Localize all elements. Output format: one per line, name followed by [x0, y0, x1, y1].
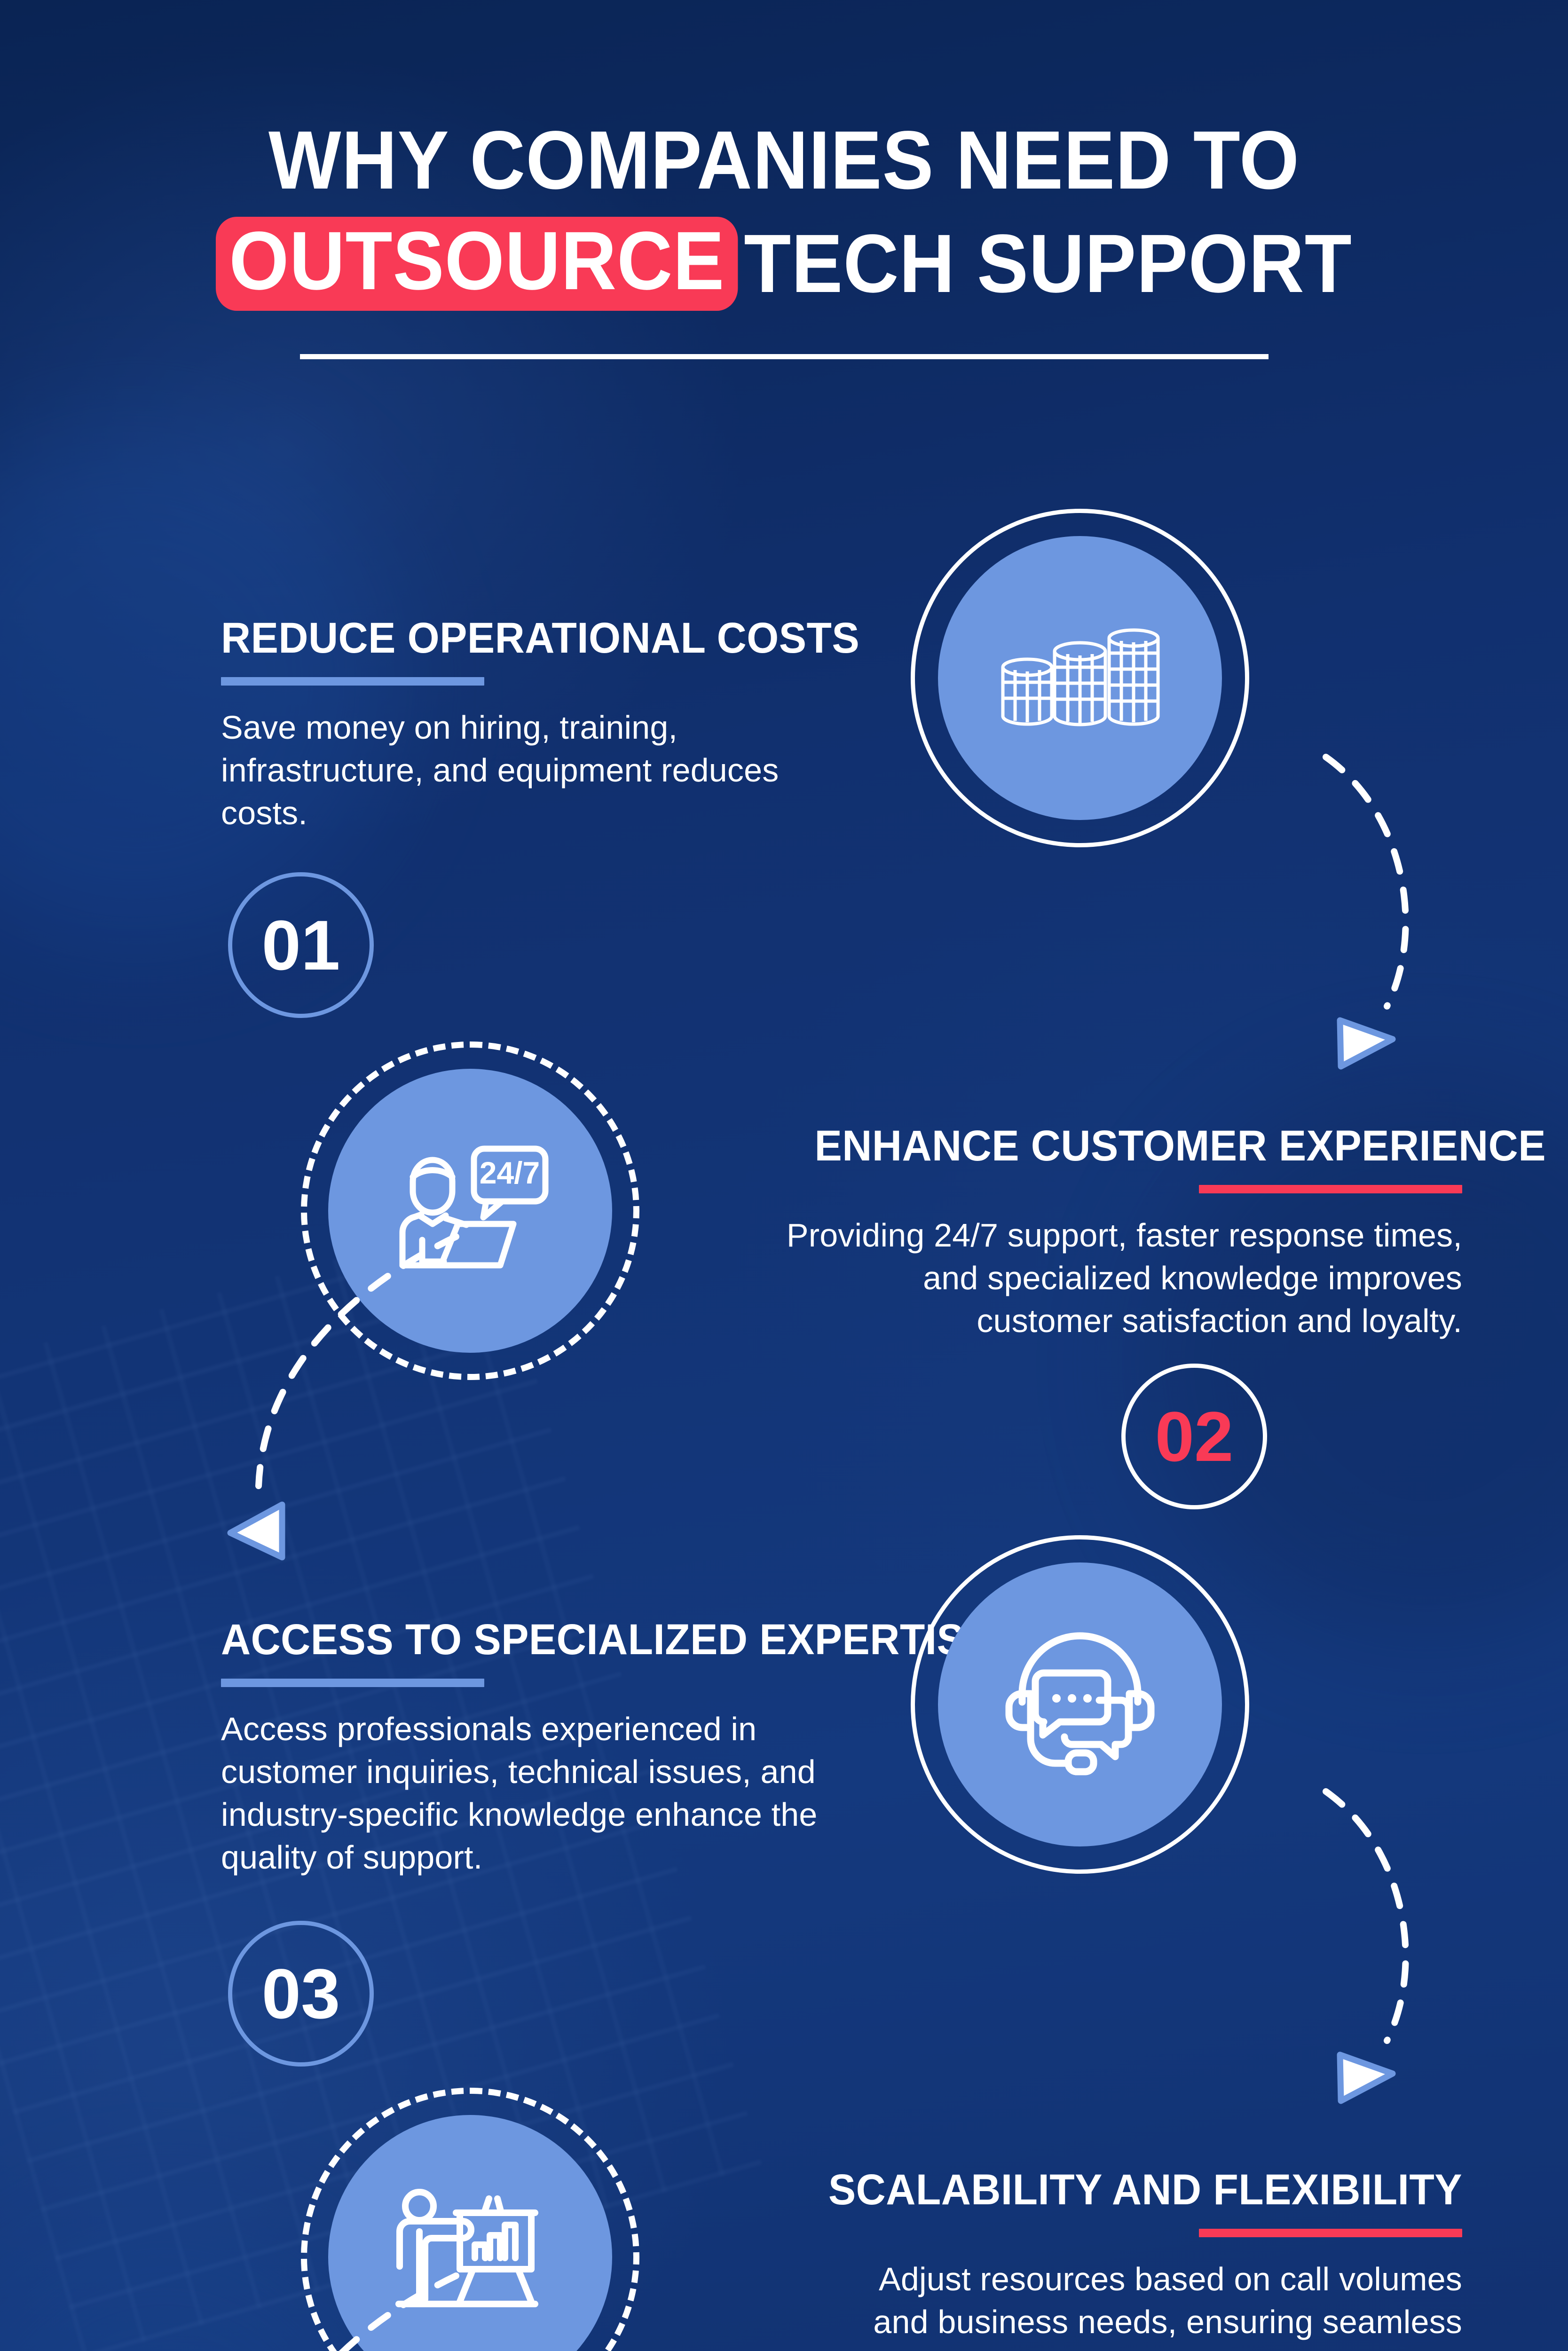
section-02-body: Providing 24/7 support, faster response …	[780, 1214, 1462, 1342]
page-title-line-1: WHY COMPANIES NEED TO	[55, 118, 1513, 204]
section-01-title: REDUCE OPERATIONAL COSTS	[221, 616, 860, 661]
headset-chat-icon	[1002, 1632, 1158, 1777]
header-divider-rule	[300, 354, 1269, 359]
outsource-highlight-chip: OUTSOURCE	[216, 217, 738, 311]
infographic-canvas: WHY COMPANIES NEED TO OUTSOURCE TECH SUP…	[0, 0, 1568, 2351]
title-remainder: TECH SUPPORT	[744, 222, 1352, 305]
header: WHY COMPANIES NEED TO OUTSOURCE TECH SUP…	[0, 118, 1568, 359]
section-03-title: ACCESS TO SPECIALIZED EXPERTISE	[221, 1617, 869, 1663]
connector-arrow-03-to-04	[1269, 1777, 1467, 2116]
section-02-number: 02	[1155, 1401, 1234, 1472]
section-03-icon-circle	[911, 1535, 1249, 1874]
highlight-word: OUTSOURCE	[229, 215, 725, 307]
section-04-text: SCALABILITY AND FLEXIBILITY Adjust resou…	[780, 2168, 1462, 2351]
section-03-text: ACCESS TO SPECIALIZED EXPERTISE Access p…	[221, 1617, 903, 1879]
icon-disc	[938, 1562, 1222, 1846]
icon-disc	[938, 536, 1222, 820]
support-badge-text: 24/7	[480, 1155, 540, 1190]
page-title-line-2: OUTSOURCE TECH SUPPORT	[55, 217, 1513, 311]
connector-arrow-02-to-03	[188, 1208, 489, 1566]
section-03-number-badge: 03	[228, 1921, 374, 2067]
connector-arrow-01-to-02	[1269, 743, 1467, 1081]
section-01-accent-rule	[221, 677, 484, 686]
section-01-icon-circle	[911, 509, 1249, 847]
coin-stacks-icon	[1000, 624, 1160, 732]
section-01-text: REDUCE OPERATIONAL COSTS Save money on h…	[221, 616, 893, 835]
section-01-number-badge: 01	[228, 872, 374, 1018]
section-01-number: 01	[262, 910, 340, 980]
section-03-number: 03	[262, 1958, 340, 2029]
section-03-body: Access professionals experienced in cust…	[221, 1708, 823, 1879]
section-01-body: Save money on hiring, training, infrastr…	[221, 706, 790, 835]
section-02-text: ENHANCE CUSTOMER EXPERIENCE Providing 24…	[780, 1124, 1462, 1342]
section-04-title: SCALABILITY AND FLEXIBILITY	[815, 2168, 1463, 2213]
section-04-accent-rule	[1199, 2229, 1462, 2237]
section-02-accent-rule	[1199, 1185, 1462, 1193]
section-02-title: ENHANCE CUSTOMER EXPERIENCE	[815, 1124, 1463, 1169]
connector-arrow-04-to-05	[188, 2248, 489, 2351]
section-04-body: Adjust resources based on call volumes a…	[842, 2258, 1462, 2351]
section-03-accent-rule	[221, 1679, 484, 1687]
section-02-number-badge: 02	[1121, 1364, 1267, 1509]
